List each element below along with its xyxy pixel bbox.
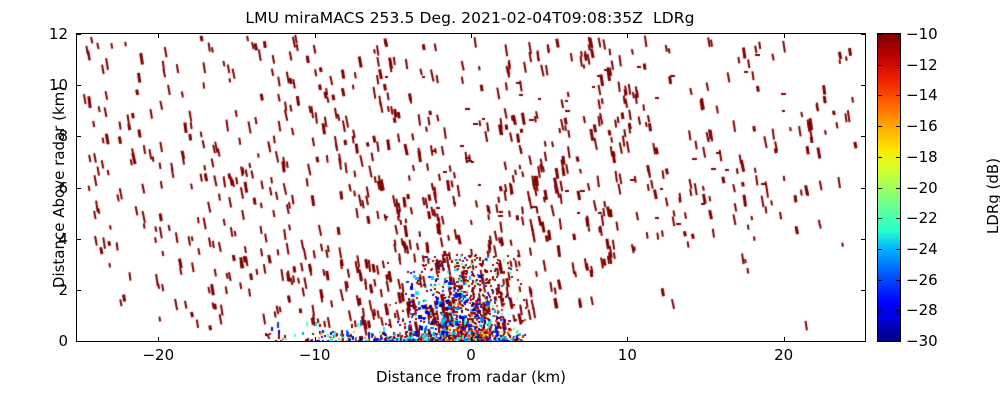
colorbar-tick-label: −26 (906, 271, 938, 289)
colorbar-tick (896, 188, 900, 189)
colorbar-tick-label: −28 (906, 301, 938, 319)
colorbar-tick (896, 126, 900, 127)
x-axis-tick (784, 337, 785, 341)
y-axis-tick-right (861, 341, 865, 342)
y-axis-tick-right (861, 136, 865, 137)
colorbar-tick-label: −16 (906, 117, 938, 135)
colorbar-tick (896, 95, 900, 96)
y-axis-tick (77, 136, 81, 137)
y-axis-tick-right (861, 34, 865, 35)
figure-canvas: LMU miraMACS 253.5 Deg. 2021-02-04T09:08… (0, 0, 1000, 400)
x-axis-tick (627, 337, 628, 341)
colorbar-tick (896, 310, 900, 311)
x-axis-tick-label: 20 (749, 346, 819, 364)
colorbar-tick-left (878, 218, 882, 219)
colorbar-tick-left (878, 157, 882, 158)
x-axis-tick-top (627, 34, 628, 38)
x-axis-tick (471, 337, 472, 341)
colorbar-tick-left (878, 188, 882, 189)
x-axis-tick (315, 337, 316, 341)
y-axis-tick-right (861, 188, 865, 189)
x-axis-tick-label: −20 (123, 346, 193, 364)
colorbar-tick-left (878, 280, 882, 281)
x-axis-tick-top (471, 34, 472, 38)
y-axis-tick (77, 188, 81, 189)
colorbar-tick (896, 65, 900, 66)
colorbar-tick-label: −12 (906, 56, 938, 74)
y-axis-tick (77, 239, 81, 240)
colorbar-tick (896, 157, 900, 158)
y-axis-label: Distance Above radar (km) (50, 32, 68, 342)
x-axis-tick-top (315, 34, 316, 38)
colorbar-tick-label: −30 (906, 332, 938, 350)
y-axis-tick (77, 85, 81, 86)
colorbar-tick (896, 280, 900, 281)
colorbar-tick-left (878, 341, 882, 342)
colorbar-tick-label: −24 (906, 240, 938, 258)
y-axis-tick-right (861, 85, 865, 86)
colorbar-tick-label: −20 (906, 179, 938, 197)
x-axis-tick-label: 0 (436, 346, 506, 364)
scatter-data-layer (77, 34, 865, 341)
colorbar-tick-left (878, 65, 882, 66)
y-axis-tick (77, 290, 81, 291)
colorbar-tick-left (878, 95, 882, 96)
colorbar-label: LDRg (dB) (984, 91, 1000, 301)
colorbar-tick-left (878, 310, 882, 311)
y-axis-tick (77, 341, 81, 342)
y-axis-tick (77, 34, 81, 35)
x-axis-tick-label: −10 (280, 346, 350, 364)
colorbar-tick-left (878, 34, 882, 35)
colorbar-tick-label: −14 (906, 86, 938, 104)
plot-axes[interactable] (76, 33, 866, 342)
x-axis-tick (158, 337, 159, 341)
x-axis-tick-top (158, 34, 159, 38)
colorbar-tick-label: −18 (906, 148, 938, 166)
colorbar-tick (896, 34, 900, 35)
colorbar-tick-label: −22 (906, 209, 938, 227)
colorbar-tick (896, 218, 900, 219)
colorbar-tick-label: −10 (906, 25, 938, 43)
page-title: LMU miraMACS 253.5 Deg. 2021-02-04T09:08… (0, 9, 940, 27)
colorbar-tick-left (878, 126, 882, 127)
x-axis-tick-label: 10 (592, 346, 662, 364)
colorbar-tick (896, 341, 900, 342)
y-axis-tick-right (861, 290, 865, 291)
colorbar-tick-left (878, 249, 882, 250)
colorbar-tick (896, 249, 900, 250)
y-axis-tick-right (861, 239, 865, 240)
x-axis-label: Distance from radar (km) (76, 368, 866, 386)
x-axis-tick-top (784, 34, 785, 38)
